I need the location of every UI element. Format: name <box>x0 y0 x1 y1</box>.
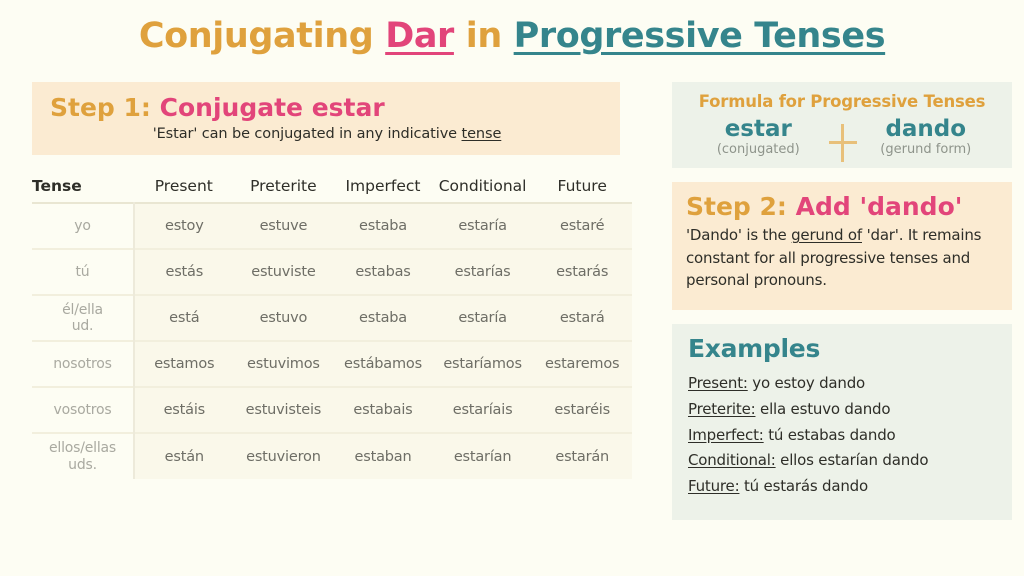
row-pronoun: vosotros <box>32 387 134 433</box>
cell-imperfect: estábamos <box>333 341 433 387</box>
formula-estar-sub: (conjugated) <box>694 142 823 157</box>
cell-present: estoy <box>134 203 234 249</box>
formula-estar-word: estar <box>694 117 823 141</box>
table-header-imperfect: Imperfect <box>333 177 433 203</box>
formula-right-part: dando (gerund form) <box>861 117 990 157</box>
cell-imperfect: estaban <box>333 433 433 479</box>
cell-present: estás <box>134 249 234 295</box>
table-row: tú estás estuviste estabas estarías esta… <box>32 249 632 295</box>
table-header-tense: Tense <box>32 177 134 203</box>
conjugation-table-wrapper: Tense Present Preterite Imperfect Condit… <box>32 177 632 479</box>
step-1-number: Step 1: <box>50 93 151 122</box>
example-text-imperfect: tú estabas dando <box>764 426 896 444</box>
examples-list: Present: yo estoy dando Preterite: ella … <box>688 371 998 500</box>
table-header-row: Tense Present Preterite Imperfect Condit… <box>32 177 632 203</box>
step-2-body-underlined: gerund of <box>791 226 862 244</box>
cell-present: estamos <box>134 341 234 387</box>
cell-conditional: estaríamos <box>433 341 533 387</box>
cell-future: estaremos <box>532 341 632 387</box>
cell-future: estaréis <box>532 387 632 433</box>
list-item: Present: yo estoy dando <box>688 371 998 397</box>
row-pronoun: yo <box>32 203 134 249</box>
formula-dando-sub: (gerund form) <box>861 142 990 157</box>
cell-preterite: estuvieron <box>234 433 334 479</box>
cell-conditional: estaríais <box>433 387 533 433</box>
title-part-in: in <box>466 16 502 56</box>
row-pronoun: nosotros <box>32 341 134 387</box>
table-row: él/ella ud. está estuvo estaba estaría e… <box>32 295 632 341</box>
table-row: nosotros estamos estuvimos estábamos est… <box>32 341 632 387</box>
cell-conditional: estaría <box>433 295 533 341</box>
conjugation-table: Tense Present Preterite Imperfect Condit… <box>32 177 632 479</box>
table-header-preterite: Preterite <box>234 177 334 203</box>
content-columns: Step 1: Conjugate estar 'Estar' can be c… <box>0 82 1024 520</box>
cell-imperfect: estabais <box>333 387 433 433</box>
list-item: Future: tú estarás dando <box>688 474 998 500</box>
table-row: ellos/ellas uds. están estuvieron estaba… <box>32 433 632 479</box>
cell-conditional: estarían <box>433 433 533 479</box>
cell-preterite: estuvimos <box>234 341 334 387</box>
cell-future: estará <box>532 295 632 341</box>
example-label-preterite: Preterite: <box>688 400 755 418</box>
row-pronoun-line1: nosotros <box>32 356 133 372</box>
cell-preterite: estuve <box>234 203 334 249</box>
example-label-future: Future: <box>688 477 739 495</box>
cell-future: estarás <box>532 249 632 295</box>
row-pronoun: tú <box>32 249 134 295</box>
step-1-subtitle-underlined: tense <box>462 126 502 142</box>
cell-imperfect: estaba <box>333 203 433 249</box>
examples-box: Examples Present: yo estoy dando Preteri… <box>672 324 1012 520</box>
row-pronoun-line1: vosotros <box>32 402 133 418</box>
table-body: yo estoy estuve estaba estaría estaré tú <box>32 203 632 479</box>
example-text-future: tú estarás dando <box>739 477 868 495</box>
table-header-future: Future <box>532 177 632 203</box>
row-pronoun-line2: uds. <box>32 457 133 473</box>
title-part-progressive-tenses: Progressive Tenses <box>514 16 886 56</box>
example-text-preterite: ella estuvo dando <box>755 400 890 418</box>
cell-preterite: estuvisteis <box>234 387 334 433</box>
formula-title: Formula for Progressive Tenses <box>686 92 998 111</box>
step-2-body: 'Dando' is the gerund of 'dar'. It remai… <box>686 224 998 292</box>
cell-preterite: estuviste <box>234 249 334 295</box>
row-pronoun: ellos/ellas uds. <box>32 433 134 479</box>
example-label-present: Present: <box>688 374 748 392</box>
table-row: vosotros estáis estuvisteis estabais est… <box>32 387 632 433</box>
plus-sign-icon <box>823 121 862 165</box>
right-column: Formula for Progressive Tenses estar (co… <box>672 82 1012 520</box>
step-2-title: Add 'dando' <box>796 192 963 221</box>
row-pronoun-line1: él/ella <box>32 302 133 318</box>
infographic-page: Conjugating Dar in Progressive Tenses St… <box>0 0 1024 576</box>
step-2-body-before: 'Dando' is the <box>686 226 791 244</box>
row-pronoun: él/ella ud. <box>32 295 134 341</box>
examples-title: Examples <box>688 334 998 363</box>
example-text-present: yo estoy dando <box>748 374 865 392</box>
list-item: Preterite: ella estuvo dando <box>688 397 998 423</box>
example-text-conditional: ellos estarían dando <box>776 451 929 469</box>
cell-present: estáis <box>134 387 234 433</box>
step-1-title: Conjugate estar <box>160 93 385 122</box>
row-pronoun-line1: yo <box>32 218 133 234</box>
page-title: Conjugating Dar in Progressive Tenses <box>0 0 1024 56</box>
step-1-subtitle-text: 'Estar' can be conjugated in any indicat… <box>153 126 462 142</box>
example-label-conditional: Conditional: <box>688 451 776 469</box>
table-row: yo estoy estuve estaba estaría estaré <box>32 203 632 249</box>
table-header-present: Present <box>134 177 234 203</box>
step-2-number: Step 2: <box>686 192 787 221</box>
title-verb-dar: Dar <box>385 16 454 56</box>
formula-box: Formula for Progressive Tenses estar (co… <box>672 82 1012 168</box>
formula-row: estar (conjugated) dando (gerund form) <box>686 117 998 165</box>
row-pronoun-line1: tú <box>32 264 133 280</box>
cell-conditional: estaría <box>433 203 533 249</box>
example-label-imperfect: Imperfect: <box>688 426 764 444</box>
formula-left-part: estar (conjugated) <box>694 117 823 157</box>
list-item: Imperfect: tú estabas dando <box>688 423 998 449</box>
step-2-box: Step 2: Add 'dando' 'Dando' is the gerun… <box>672 182 1012 310</box>
step-1-heading: Step 1: Conjugate estar <box>50 92 604 123</box>
table-header-conditional: Conditional <box>433 177 533 203</box>
table-head: Tense Present Preterite Imperfect Condit… <box>32 177 632 203</box>
step-1-subtitle: 'Estar' can be conjugated in any indicat… <box>50 126 604 142</box>
step-2-heading: Step 2: Add 'dando' <box>686 191 998 222</box>
cell-present: está <box>134 295 234 341</box>
cell-future: estaré <box>532 203 632 249</box>
formula-dando-word: dando <box>861 117 990 141</box>
cell-imperfect: estaba <box>333 295 433 341</box>
title-part-conjugating: Conjugating <box>139 16 374 56</box>
cell-imperfect: estabas <box>333 249 433 295</box>
cell-conditional: estarías <box>433 249 533 295</box>
cell-present: están <box>134 433 234 479</box>
left-column: Step 1: Conjugate estar 'Estar' can be c… <box>32 82 652 520</box>
step-1-box: Step 1: Conjugate estar 'Estar' can be c… <box>32 82 620 155</box>
row-pronoun-line1: ellos/ellas <box>32 440 133 456</box>
list-item: Conditional: ellos estarían dando <box>688 448 998 474</box>
cell-preterite: estuvo <box>234 295 334 341</box>
row-pronoun-line2: ud. <box>32 318 133 334</box>
cell-future: estarán <box>532 433 632 479</box>
